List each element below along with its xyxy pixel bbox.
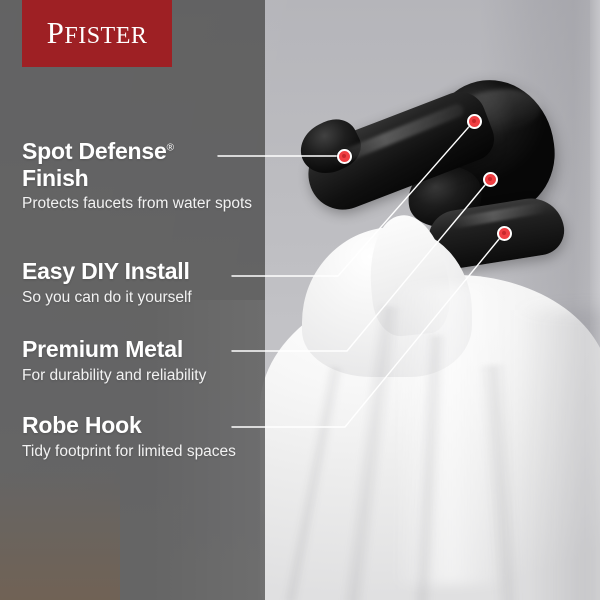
white-robe — [250, 215, 600, 600]
pfister-logo-text: PFISTER — [47, 17, 148, 51]
logo-initial: P — [47, 15, 65, 50]
feature-description: So you can do it yourself — [22, 288, 262, 308]
feature-premium-metal: Premium Metal For durability and reliabi… — [22, 336, 262, 386]
feature-title-line2: Finish — [22, 165, 89, 191]
info-panel-warm-bleed — [0, 470, 120, 600]
product-feature-callout-image: PFISTER Spot Defense®Finish Protects fau… — [0, 0, 600, 600]
feature-title: Easy DIY Install — [22, 258, 262, 285]
feature-description: For durability and reliability — [22, 366, 262, 386]
feature-robe-hook: Robe Hook Tidy footprint for limited spa… — [22, 412, 262, 462]
pfister-logo: PFISTER — [22, 0, 172, 67]
feature-title-text: Spot Defense — [22, 138, 167, 164]
feature-description: Tidy footprint for limited spaces — [22, 442, 262, 462]
feature-spot-defense-finish: Spot Defense®Finish Protects faucets fro… — [22, 138, 262, 214]
feature-easy-diy-install: Easy DIY Install So you can do it yourse… — [22, 258, 262, 308]
robe-shadow — [518, 310, 600, 600]
logo-wordmark: FISTER — [64, 23, 147, 49]
feature-title: Premium Metal — [22, 336, 262, 363]
feature-title: Robe Hook — [22, 412, 262, 439]
registered-trademark-icon: ® — [167, 142, 174, 153]
feature-title: Spot Defense®Finish — [22, 138, 262, 191]
feature-description: Protects faucets from water spots — [22, 194, 262, 214]
